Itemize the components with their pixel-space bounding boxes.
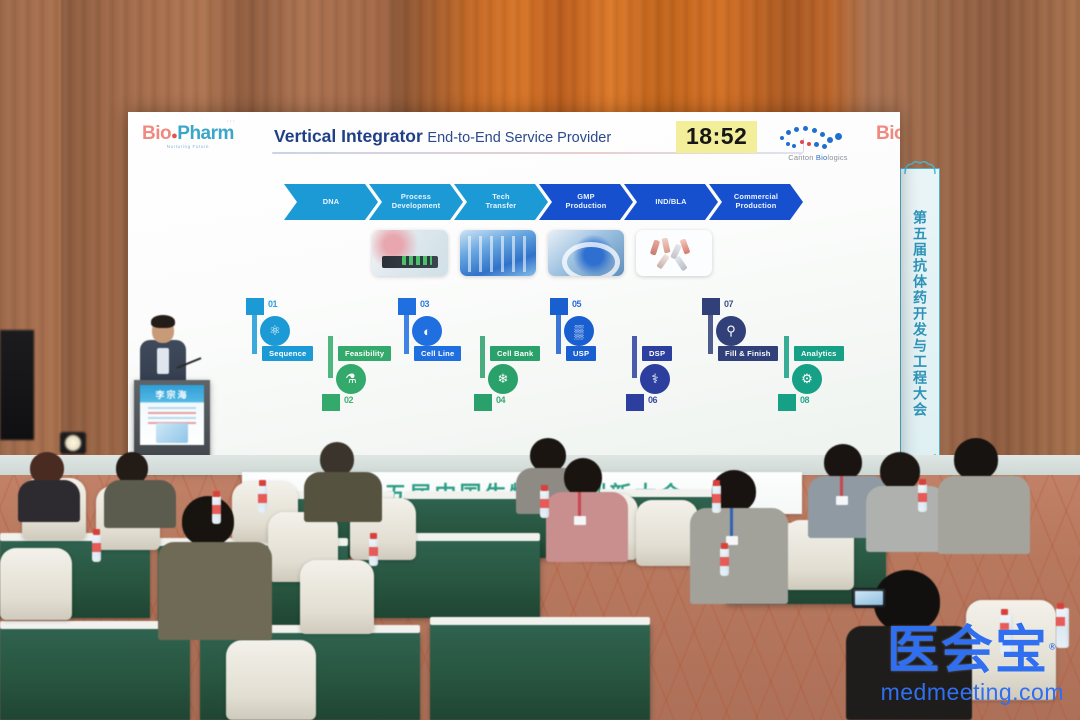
process-chevron-gmp-production: GMPProduction — [539, 184, 633, 220]
speaker-column — [0, 330, 34, 440]
timeline-step-icon: ⚙ — [792, 364, 822, 394]
banner-right: 第五届抗体药开发与工程大会 — [900, 168, 940, 460]
audience-table — [0, 628, 190, 720]
timeline-step-label: Sequence — [262, 346, 313, 361]
podium-sign: 李宗海 — [140, 385, 204, 445]
water-bottle — [1056, 608, 1069, 648]
water-bottle — [92, 534, 101, 562]
video-camera-light — [60, 432, 86, 454]
timeline-step-icon: ◐ — [412, 316, 442, 346]
chair — [300, 560, 374, 634]
timeline-step-number: 07 — [724, 299, 733, 309]
timeline-step-label: Analytics — [794, 346, 844, 361]
logo-pharm-text: Pharm — [177, 123, 234, 144]
presenter-head — [152, 318, 174, 343]
timeline-step-number: 03 — [420, 299, 429, 309]
water-bottle — [918, 484, 927, 512]
water-bottle — [540, 490, 549, 518]
presenter-name: 李宗海 — [140, 388, 204, 401]
slide-title-sub: End-to-End Service Provider — [427, 130, 611, 146]
countdown-timer: 18:52 — [676, 121, 757, 153]
timeline-step-label: Feasibility — [338, 346, 391, 361]
timeline-step-label: DSP — [642, 346, 672, 361]
water-bottle — [369, 538, 378, 566]
process-chevron-tech-transfer: TechTransfer — [454, 184, 548, 220]
conference-room-photo: 第五届抗体药开发与工程 第五届抗体药开发与工程大会 Bio●Pharm ··· … — [0, 0, 1080, 720]
water-bottle — [720, 548, 729, 576]
process-chevron-ind-bla: IND/BLA — [624, 184, 718, 220]
process-chevron-label: GMPProduction — [561, 193, 610, 210]
timeline-marker-stem — [632, 336, 637, 378]
presenter-hair — [151, 315, 175, 328]
timeline-step-number: 04 — [496, 395, 505, 405]
timeline-step-number: 08 — [800, 395, 809, 405]
biopharm-logo-left: Bio●Pharm ··· Nurturing Future — [142, 124, 234, 150]
timeline-marker-stem — [480, 336, 485, 378]
canton-dna-dots-icon — [772, 120, 864, 150]
bioreactor-facility-photo — [460, 230, 536, 276]
process-timeline: 01⚛Sequence02⚗Feasibility03◐Cell Line04❄… — [238, 290, 878, 418]
timeline-marker-stem — [784, 336, 789, 378]
process-chevron-label: CommercialProduction — [730, 193, 782, 210]
smartphone-icon — [852, 588, 886, 608]
banner-right-text: 第五届抗体药开发与工程大会 — [913, 210, 927, 418]
projection-screen: Bio●Pharm ··· Nurturing Future Bio●Pharm… — [128, 112, 900, 467]
timeline-step-label: Fill & Finish — [718, 346, 778, 361]
process-chevron-label: ProcessDevelopment — [388, 193, 445, 210]
logo-bio-text: Bio — [142, 123, 171, 144]
logo-sparkle-icon: ··· — [227, 119, 236, 125]
logo-bio-text: Bio — [876, 123, 900, 144]
timeline-marker-stem — [404, 312, 409, 354]
timeline-marker-cap — [778, 394, 796, 411]
chair — [636, 500, 698, 566]
water-bottle — [258, 485, 267, 513]
process-chevron-commercial-production: CommercialProduction — [709, 184, 803, 220]
slide-title-bold: Vertical Integrator — [274, 126, 423, 146]
timeline-step-label: USP — [566, 346, 596, 361]
pipetting-photo — [372, 230, 448, 276]
timeline-marker-cap — [474, 394, 492, 411]
timeline-step-icon: ⚛ — [260, 316, 290, 346]
timeline-step-number: 02 — [344, 395, 353, 405]
water-bottle — [712, 485, 721, 513]
centrifuge-photo — [548, 230, 624, 276]
canton-biologics-logo: Canton Biologics — [772, 120, 864, 162]
timeline-step-label: Cell Bank — [490, 346, 540, 361]
timeline-step-icon: ❄ — [488, 364, 518, 394]
audience-table — [430, 624, 650, 720]
process-chevron-label: TechTransfer — [482, 193, 521, 210]
banner-ornament-icon — [903, 160, 937, 176]
timeline-step-icon: ⚲ — [716, 316, 746, 346]
podium-sign-image — [156, 423, 188, 443]
timeline-step-label: Cell Line — [414, 346, 461, 361]
vials-photo — [636, 230, 712, 276]
timeline-step-icon: ⚕ — [640, 364, 670, 394]
water-bottle — [212, 496, 221, 524]
timeline-step-number: 05 — [572, 299, 581, 309]
logo-tagline: Nurturing Future — [876, 145, 900, 150]
process-chevron-label: DNA — [319, 198, 344, 207]
water-bottle — [1000, 614, 1013, 654]
timeline-step-icon: ▒ — [564, 316, 594, 346]
logo-tagline: Nurturing Future — [142, 145, 234, 150]
process-chevron-dna: DNA — [284, 184, 378, 220]
canton-biologics-name: Canton Biologics — [772, 153, 864, 162]
timeline-marker-stem — [556, 312, 561, 354]
timeline-marker-cap — [626, 394, 644, 411]
timeline-step-icon: ⚗ — [336, 364, 366, 394]
timeline-step-number: 06 — [648, 395, 657, 405]
photo-thumbnail-row — [372, 230, 712, 276]
chair — [0, 548, 72, 620]
timeline-marker-stem — [252, 312, 257, 354]
slide-title: Vertical Integrator End-to-End Service P… — [274, 126, 674, 147]
process-chevron-row: DNAProcessDevelopmentTechTransferGMPProd… — [284, 184, 794, 220]
biopharm-logo-right: Bio●Pharm ··· Nurturing Future — [876, 124, 900, 150]
timeline-marker-cap — [322, 394, 340, 411]
chair — [226, 640, 316, 720]
presenter-shirt — [157, 348, 169, 374]
timeline-marker-stem — [708, 312, 713, 354]
timeline-marker-stem — [328, 336, 333, 378]
process-chevron-label: IND/BLA — [651, 198, 690, 207]
timeline-step-number: 01 — [268, 299, 277, 309]
process-chevron-process-development: ProcessDevelopment — [369, 184, 463, 220]
